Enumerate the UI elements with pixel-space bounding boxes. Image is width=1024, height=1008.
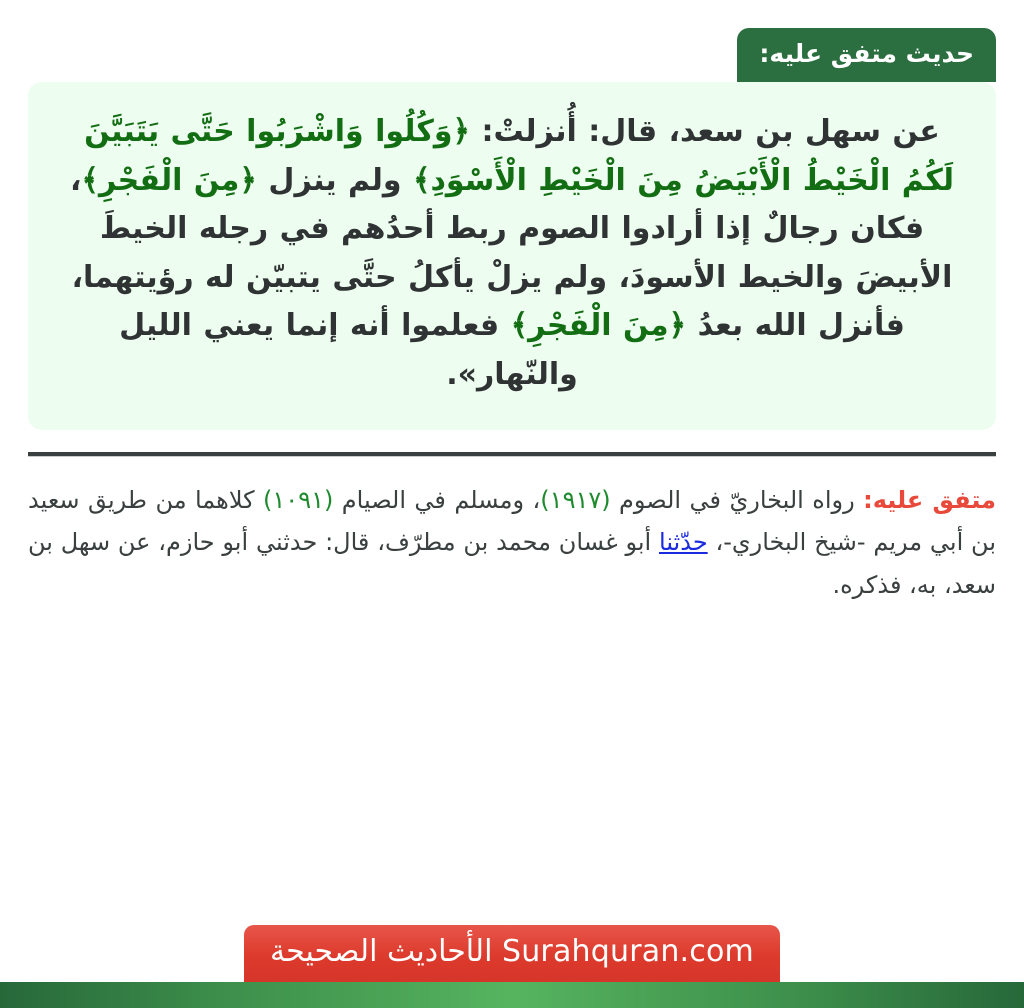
- hadith-run-plain-6: فعلموا أنه إنما يعني الليل والنّهار».: [119, 308, 578, 392]
- hadith-run-quran-3: ﴿مِنَ الْفَجْرِ﴾: [81, 163, 257, 198]
- citation-run-plain-3: ، ومسلم في الصيام: [333, 486, 540, 514]
- site-footer-button[interactable]: Surahquran.com الأحاديث الصحيحة: [244, 925, 780, 982]
- footer-site-label: الأحاديث الصحيحة: [270, 934, 492, 969]
- citation-run-plain-1: رواه البخاريّ في الصوم: [611, 486, 864, 514]
- hadith-box-wrapper: عن سهل بن سعد، قال: أُنزلتْ: ﴿وَكُلُوا و…: [0, 82, 1024, 430]
- citation-wrapper: متفق عليه: رواه البخاريّ في الصوم (١٩١٧)…: [0, 457, 1024, 925]
- hadith-type-badge: حديث متفق عليه:: [737, 28, 996, 82]
- bottom-accent-bar: [0, 982, 1024, 1008]
- citation-run-label-0: متفق عليه:: [863, 486, 996, 514]
- footer-row: Surahquran.com الأحاديث الصحيحة: [0, 925, 1024, 982]
- hadith-card: حديث متفق عليه: عن سهل بن سعد، قال: أُنز…: [0, 0, 1024, 1008]
- citation-run-link-6[interactable]: حدّثنا: [659, 528, 708, 556]
- hadith-run-quran-5: ﴿مِنَ الْفَجْرِ﴾: [511, 308, 687, 343]
- hadith-text: عن سهل بن سعد، قال: أُنزلتْ: ﴿وَكُلُوا و…: [58, 108, 966, 400]
- footer-brand: Surahquran.com: [502, 937, 754, 967]
- citation-run-num-2: (١٩١٧): [540, 486, 610, 514]
- citation-text: متفق عليه: رواه البخاريّ في الصوم (١٩١٧)…: [28, 479, 996, 607]
- hadith-run-plain-2: ولم ينزل: [257, 163, 413, 198]
- hadith-run-plain-0: عن سهل بن سعد، قال: أُنزلتْ:: [470, 114, 940, 149]
- divider-wrapper: [0, 430, 1024, 457]
- hadith-box: عن سهل بن سعد، قال: أُنزلتْ: ﴿وَكُلُوا و…: [28, 82, 996, 430]
- header-row: حديث متفق عليه:: [0, 0, 1024, 82]
- citation-run-num-4: (١٠٩١): [263, 486, 333, 514]
